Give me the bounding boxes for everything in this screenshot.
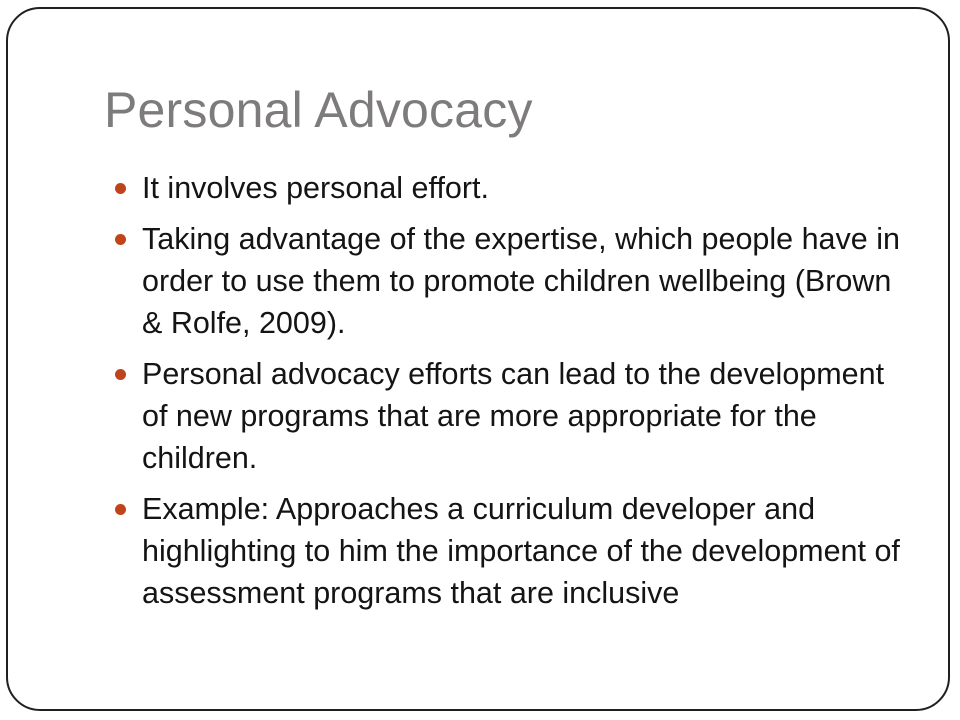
list-item-text: Example: Approaches a curriculum develop… xyxy=(142,488,904,614)
bullet-dot-icon xyxy=(115,234,126,245)
page-title: Personal Advocacy xyxy=(104,81,533,139)
bullet-dot-icon xyxy=(115,504,126,515)
list-item-text: Taking advantage of the expertise, which… xyxy=(142,218,904,344)
list-item: Taking advantage of the expertise, which… xyxy=(104,218,904,344)
bullet-dot-icon xyxy=(115,369,126,380)
list-item-text: Personal advocacy efforts can lead to th… xyxy=(142,353,904,479)
list-item: Personal advocacy efforts can lead to th… xyxy=(104,353,904,479)
list-item: Example: Approaches a curriculum develop… xyxy=(104,488,904,614)
bullet-list: It involves personal effort. Taking adva… xyxy=(104,167,904,623)
slide-frame: Personal Advocacy It involves personal e… xyxy=(6,7,950,711)
list-item: It involves personal effort. xyxy=(104,167,904,209)
bullet-dot-icon xyxy=(115,183,126,194)
list-item-text: It involves personal effort. xyxy=(142,167,904,209)
